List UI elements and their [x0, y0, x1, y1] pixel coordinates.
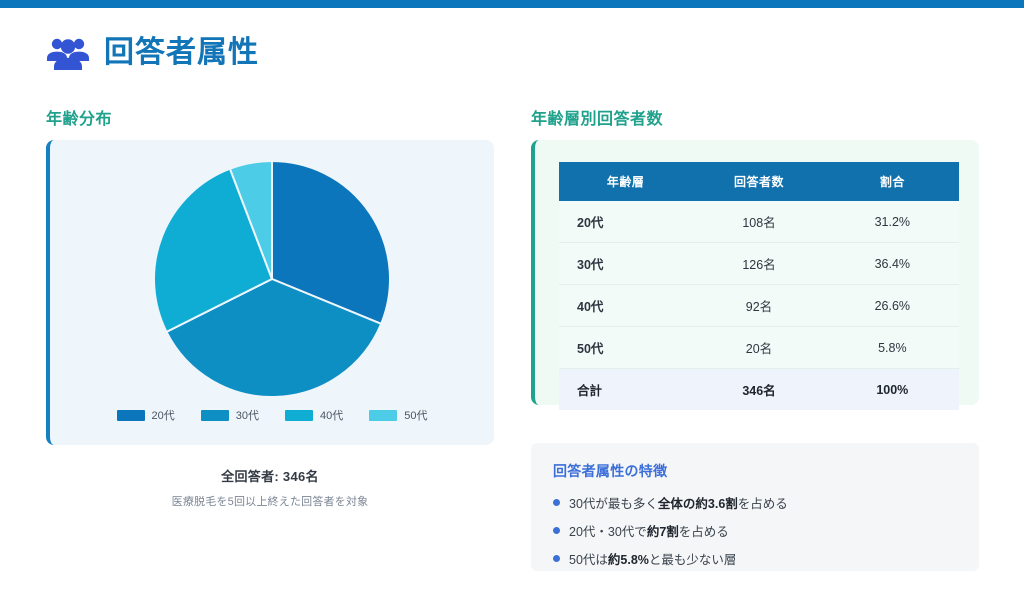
- slide-root: 回答者属性 年齢分布 20代30代40代50代 全回答者: 346名 医療脱毛を…: [0, 0, 1024, 601]
- cell-count: 92名: [692, 285, 825, 327]
- legend-swatch: [201, 410, 229, 421]
- cell-ratio: 100%: [826, 369, 959, 411]
- age-breakdown-table: 年齢層 回答者数 割合 20代108名31.2%30代126名36.4%40代9…: [559, 162, 959, 410]
- people-group-icon: [46, 33, 90, 73]
- cell-ratio: 31.2%: [826, 201, 959, 243]
- bullet-icon: [553, 527, 560, 534]
- cell-ratio: 26.6%: [826, 285, 959, 327]
- insight-item: 50代は約5.8%と最も少ない層: [553, 549, 957, 568]
- insight-text: 20代・30代で約7割を占める: [569, 521, 729, 540]
- pie-chart-card: 20代30代40代50代: [46, 140, 494, 445]
- insight-item: 30代が最も多く全体の約3.6割を占める: [553, 493, 957, 512]
- legend-item: 40代: [285, 407, 343, 423]
- cell-ratio: 5.8%: [826, 327, 959, 369]
- top-accent-bar: [0, 0, 1024, 8]
- pie-chart-area: [50, 155, 494, 403]
- insight-box: 回答者属性の特徴 30代が最も多く全体の約3.6割を占める20代・30代で約7割…: [531, 443, 979, 571]
- page-title: 回答者属性: [104, 38, 259, 68]
- insight-text: 50代は約5.8%と最も少ない層: [569, 549, 736, 568]
- column-header-age: 年齢層: [559, 162, 692, 201]
- legend-item: 20代: [117, 407, 175, 423]
- table-body: 20代108名31.2%30代126名36.4%40代92名26.6%50代20…: [559, 201, 959, 410]
- section-title-age-distribution: 年齢分布: [46, 105, 112, 129]
- cell-age: 20代: [559, 201, 692, 243]
- insight-list: 30代が最も多く全体の約3.6割を占める20代・30代で約7割を占める50代は約…: [553, 493, 957, 568]
- table-row: 40代92名26.6%: [559, 285, 959, 327]
- table-row: 30代126名36.4%: [559, 243, 959, 285]
- section-title-respondents-by-age: 年齢層別回答者数: [531, 105, 663, 129]
- table-row: 50代20名5.8%: [559, 327, 959, 369]
- insight-item: 20代・30代で約7割を占める: [553, 521, 957, 540]
- insight-text: 30代が最も多く全体の約3.6割を占める: [569, 493, 788, 512]
- page-header: 回答者属性: [46, 33, 259, 73]
- caption-note: 医療脱毛を5回以上終えた回答者を対象: [46, 493, 494, 509]
- cell-count: 20名: [692, 327, 825, 369]
- cell-count: 346名: [692, 369, 825, 411]
- legend-swatch: [117, 410, 145, 421]
- legend-label: 20代: [152, 407, 175, 423]
- bullet-icon: [553, 555, 560, 562]
- legend-item: 50代: [369, 407, 427, 423]
- table-header-row: 年齢層 回答者数 割合: [559, 162, 959, 201]
- pie-chart-legend: 20代30代40代50代: [50, 407, 494, 423]
- pie-chart: [148, 155, 396, 403]
- cell-ratio: 36.4%: [826, 243, 959, 285]
- cell-age: 30代: [559, 243, 692, 285]
- column-header-count: 回答者数: [692, 162, 825, 201]
- legend-item: 30代: [201, 407, 259, 423]
- legend-label: 30代: [236, 407, 259, 423]
- table-total-row: 合計346名100%: [559, 369, 959, 411]
- insight-title: 回答者属性の特徴: [553, 461, 957, 481]
- cell-count: 126名: [692, 243, 825, 285]
- legend-label: 50代: [404, 407, 427, 423]
- legend-label: 40代: [320, 407, 343, 423]
- cell-age: 50代: [559, 327, 692, 369]
- cell-age: 40代: [559, 285, 692, 327]
- age-table-card: 年齢層 回答者数 割合 20代108名31.2%30代126名36.4%40代9…: [531, 140, 979, 405]
- table-head: 年齢層 回答者数 割合: [559, 162, 959, 201]
- cell-count: 108名: [692, 201, 825, 243]
- bullet-icon: [553, 499, 560, 506]
- legend-swatch: [285, 410, 313, 421]
- chart-caption: 全回答者: 346名 医療脱毛を5回以上終えた回答者を対象: [46, 466, 494, 509]
- column-header-ratio: 割合: [826, 162, 959, 201]
- legend-swatch: [369, 410, 397, 421]
- cell-age: 合計: [559, 369, 692, 411]
- caption-total-respondents: 全回答者: 346名: [46, 466, 494, 485]
- table-row: 20代108名31.2%: [559, 201, 959, 243]
